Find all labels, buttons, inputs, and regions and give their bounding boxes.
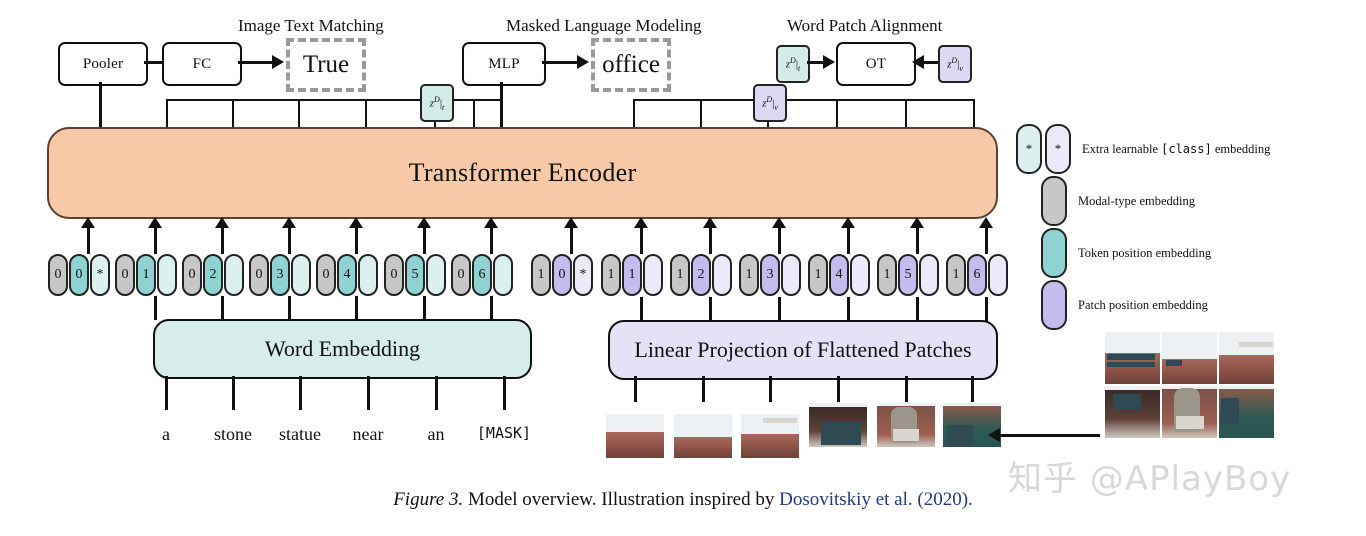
encoder-input-arrow-head-image-3 [772,217,786,228]
token-capsule-modal-text-2: 0 [182,254,202,296]
source-to-strip-arrow-head [988,428,1000,442]
patch-sky [674,414,732,437]
patch-window-0 [821,421,861,445]
token-capsule-modal-image-6: 1 [946,254,966,296]
encoder-input-arrow-head-image-6 [979,217,993,228]
encoder-input-arrow-shaft-image-6 [985,228,988,254]
word-stem-0 [165,376,168,410]
legend-label-0: Extra learnable [class] embedding [1082,142,1270,157]
legend-label-2: Token position embedding [1078,246,1211,261]
cell-sky [1105,332,1160,353]
legend-capsule-1 [1041,176,1067,226]
image-patch-0 [606,414,664,458]
encoder-input-arrow-shaft-text-5 [423,228,426,254]
token-capsule-modal-image-0: 1 [531,254,551,296]
token-capsule-modal-text-3: 0 [249,254,269,296]
image-patch-4 [877,403,935,447]
encoder-input-arrow-head-text-6 [484,217,498,228]
embedding-output-stem-text-4 [355,296,358,320]
encoder-input-arrow-shaft-image-2 [709,228,712,254]
source-image-cell-1 [1162,332,1217,384]
figure-canvas: Image Text Matching Masked Language Mode… [0,0,1366,536]
source-to-strip-arrow-shaft [1000,434,1100,437]
token-capsule-modal-image-1: 1 [601,254,621,296]
patch-stem-0 [634,376,637,402]
embedding-output-stem-image-6 [985,297,988,321]
token-capsule-position-image-2: 2 [691,254,711,296]
encoder-input-arrow-head-text-5 [417,217,431,228]
encoder-input-arrow-head-image-0 [564,217,578,228]
legend-label-mono: [class] [1161,142,1212,156]
embedding-output-stem-text-6 [490,296,493,320]
token-capsule-modal-image-5: 1 [877,254,897,296]
token-capsule-position-text-3: 3 [270,254,290,296]
cell-window-0 [1107,354,1155,360]
source-image-cell-3 [1105,386,1160,438]
token-capsule-modal-image-4: 1 [808,254,828,296]
patch-building [606,432,664,458]
cell-window-1 [1107,362,1155,367]
legend-capsule-text: * [1016,124,1042,174]
token-capsule-value-text-4 [358,254,378,296]
encoder-input-arrow-head-image-1 [634,217,648,228]
patch-stem-1 [702,376,705,402]
image-patch-2 [741,414,799,458]
encoder-input-arrow-shaft-image-0 [570,228,573,254]
token-capsule-value-image-2 [712,254,732,296]
encoder-input-arrow-shaft-text-6 [490,228,493,254]
token-capsule-value-text-1 [157,254,177,296]
token-capsule-position-text-5: 5 [405,254,425,296]
embedding-output-stem-text-2 [221,296,224,320]
patch-railing [763,418,797,423]
cell-window-0 [1113,394,1141,410]
token-capsule-modal-text-6: 0 [451,254,471,296]
token-capsule-modal-text-5: 0 [384,254,404,296]
token-capsule-modal-text-4: 0 [316,254,336,296]
legend-capsule-image: * [1045,124,1071,174]
patch-building [741,434,799,458]
encoder-input-arrow-head-text-1 [148,217,162,228]
legend-capsule-3 [1041,280,1067,330]
legend-label-post: embedding [1212,142,1271,156]
patch-window-0 [947,425,973,447]
token-capsule-position-image-0: 0 [552,254,572,296]
token-capsule-position-image-6: 6 [967,254,987,296]
cell-building [1219,355,1274,384]
word-stem-5 [503,376,506,410]
legend-capsule-2 [1041,228,1067,278]
encoder-input-arrow-shaft-text-0 [87,228,90,254]
caption-citation-link[interactable]: Dosovitskiy et al. [779,489,913,510]
cell-window-0 [1221,398,1239,424]
embedding-output-stem-image-2 [709,297,712,321]
legend-row-3: Patch position embedding [1016,280,1208,330]
legend-swatch-group-2 [1016,228,1067,278]
word-stem-4 [435,376,438,410]
caption-citation-year[interactable]: (2020). [913,489,973,510]
cell-plaque [1176,416,1204,429]
patch-stem-5 [971,376,974,402]
patch-plaque [893,429,919,441]
legend-label-1: Modal-type embedding [1078,194,1195,209]
token-capsule-position-image-1: 1 [622,254,642,296]
source-image-cell-2 [1219,332,1274,384]
token-capsule-modal-image-2: 1 [670,254,690,296]
token-capsule-value-text-2 [224,254,244,296]
encoder-input-arrow-head-text-0 [81,217,95,228]
token-capsule-position-text-2: 2 [203,254,223,296]
token-capsule-value-image-5 [919,254,939,296]
encoder-input-arrow-shaft-image-4 [847,228,850,254]
patch-stem-4 [905,376,908,402]
legend-label-pre: Extra learnable [1082,142,1161,156]
token-capsule-value-image-3 [781,254,801,296]
token-capsule-position-text-1: 1 [136,254,156,296]
encoder-input-arrow-shaft-text-3 [288,228,291,254]
encoder-input-arrow-shaft-text-4 [355,228,358,254]
encoder-input-arrow-shaft-image-1 [640,228,643,254]
token-capsule-value-image-0: * [573,254,593,296]
encoder-input-arrow-shaft-text-2 [221,228,224,254]
legend-swatch-group-0: ** [1016,124,1071,174]
patch-stem-3 [837,376,840,402]
encoder-input-arrow-shaft-image-3 [778,228,781,254]
token-capsule-value-image-4 [850,254,870,296]
encoder-input-arrow-shaft-text-1 [154,228,157,254]
cell-sky [1162,332,1217,359]
word-stem-3 [367,376,370,410]
encoder-input-arrow-head-image-2 [703,217,717,228]
encoder-input-arrow-head-image-4 [841,217,855,228]
token-capsule-position-image-5: 5 [898,254,918,296]
embedding-output-stem-image-1 [640,297,643,321]
encoder-input-arrow-head-image-5 [910,217,924,228]
image-patch-3 [809,403,867,447]
patch-stem-2 [769,376,772,402]
source-image-cell-4 [1162,386,1217,438]
caption-text: Model overview. Illustration inspired by [463,489,779,510]
legend-swatch-group-1 [1016,176,1067,226]
watermark-text: 知乎 @APlayBoy [1008,451,1291,500]
embedding-output-stem-image-4 [847,297,850,321]
word-label-5: [MASK] [458,424,550,442]
token-capsule-position-image-4: 4 [829,254,849,296]
encoder-input-arrow-head-text-2 [215,217,229,228]
token-capsule-value-text-0: * [90,254,110,296]
token-capsule-value-text-5 [426,254,446,296]
token-capsule-position-text-4: 4 [337,254,357,296]
legend-label-3: Patch position embedding [1078,298,1208,313]
caption-prefix: Figure 3. [393,489,463,510]
legend-swatch-group-3 [1016,280,1067,330]
encoder-input-arrow-head-text-3 [282,217,296,228]
embedding-output-stem-text-3 [288,296,291,320]
token-capsule-modal-text-0: 0 [48,254,68,296]
embedding-output-stem-image-5 [916,297,919,321]
word-stem-1 [232,376,235,410]
legend-row-2: Token position embedding [1016,228,1211,278]
token-capsule-value-text-3 [291,254,311,296]
token-capsule-position-image-3: 3 [760,254,780,296]
cell-railing [1239,342,1273,347]
token-capsule-modal-image-3: 1 [739,254,759,296]
token-capsule-value-text-6 [493,254,513,296]
patch-building [674,437,732,458]
embedding-output-stem-image-3 [778,297,781,321]
patch-sky [606,414,664,432]
source-image-grid [1105,332,1275,440]
encoder-input-arrow-shaft-image-5 [916,228,919,254]
embedding-output-stem-text-1 [154,296,157,320]
source-image-cell-0 [1105,332,1160,384]
token-capsule-value-image-6 [988,254,1008,296]
source-image-cell-5 [1219,386,1274,438]
legend-row-1: Modal-type embedding [1016,176,1195,226]
token-capsule-modal-text-1: 0 [115,254,135,296]
cell-window-0 [1166,360,1182,366]
encoder-input-arrow-head-text-4 [349,217,363,228]
legend-row-0: **Extra learnable [class] embedding [1016,124,1270,174]
embedding-output-stem-text-5 [423,296,426,320]
token-capsule-position-text-6: 6 [472,254,492,296]
image-patch-1 [674,414,732,458]
word-stem-2 [299,376,302,410]
token-capsule-position-text-0: 0 [69,254,89,296]
token-capsule-value-image-1 [643,254,663,296]
